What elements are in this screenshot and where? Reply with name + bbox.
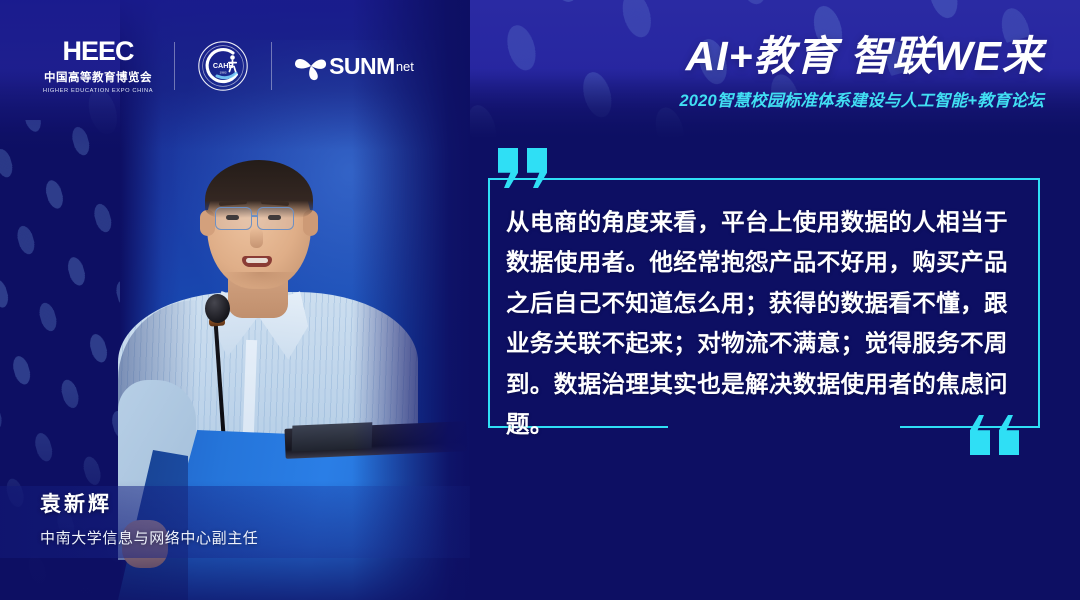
microphone-icon [205, 294, 230, 323]
logo-divider-2 [271, 42, 272, 90]
logo-group: HEEC 中国高等教育博览会 HIGHER EDUCATION EXPO CHI… [44, 32, 414, 100]
quote-close-icon [970, 415, 1028, 455]
heec-logo-english: HIGHER EDUCATION EXPO CHINA [43, 88, 153, 94]
svg-text:CAHE: CAHE [213, 61, 234, 70]
speaker-name: 袁新辉 [40, 488, 258, 518]
banner-poster: HEEC 中国高等教育博览会 HIGHER EDUCATION EXPO CHI… [0, 0, 1080, 600]
quote-card: 从电商的角度来看，平台上使用数据的人相当于数据使用者。他经常抱怨产品不好用，购买… [470, 140, 1050, 430]
speaker-role: 中南大学信息与网络中心副主任 [40, 527, 258, 548]
quote-frame-left [488, 178, 490, 428]
quote-open-icon [498, 148, 556, 188]
heec-wordmark: HEEC [63, 38, 134, 65]
title-block: AI+教育 智联WE来 2020智慧校园标准体系建设与人工智能+教育论坛 [679, 34, 1044, 111]
event-subtitle: 2020智慧校园标准体系建设与人工智能+教育论坛 [679, 87, 1044, 111]
glasses-lens-right [257, 207, 294, 230]
svg-text:1983: 1983 [220, 70, 227, 74]
heec-logo-chinese: 中国高等教育博览会 [44, 69, 152, 85]
sunmnet-logo[interactable]: SUNMnet [294, 50, 414, 82]
cahe-logo[interactable]: CAHE 1983 [197, 40, 249, 92]
glasses-lens-left [215, 207, 252, 230]
cahe-emblem-icon: CAHE 1983 [197, 40, 249, 92]
speaker-nose [250, 228, 263, 248]
speaker-chin-shadow [222, 272, 298, 288]
speaker-caption: 袁新辉 中南大学信息与网络中心副主任 [40, 488, 258, 548]
sunmnet-wordmark: SUNM [329, 53, 395, 80]
sunmnet-suffix: net [396, 59, 414, 74]
quote-frame-top [488, 178, 1040, 180]
sunmnet-mark-icon [294, 50, 328, 82]
quote-text: 从电商的角度来看，平台上使用数据的人相当于数据使用者。他经常抱怨产品不好用，购买… [506, 202, 1026, 444]
speaker-teeth [246, 258, 268, 263]
quote-frame-right [1038, 178, 1040, 428]
glasses-bridge [252, 215, 258, 217]
logo-divider-1 [174, 42, 175, 90]
heec-logo[interactable]: HEEC 中国高等教育博览会 HIGHER EDUCATION EXPO CHI… [44, 38, 152, 94]
event-main-title: AI+教育 智联WE来 [679, 34, 1044, 79]
